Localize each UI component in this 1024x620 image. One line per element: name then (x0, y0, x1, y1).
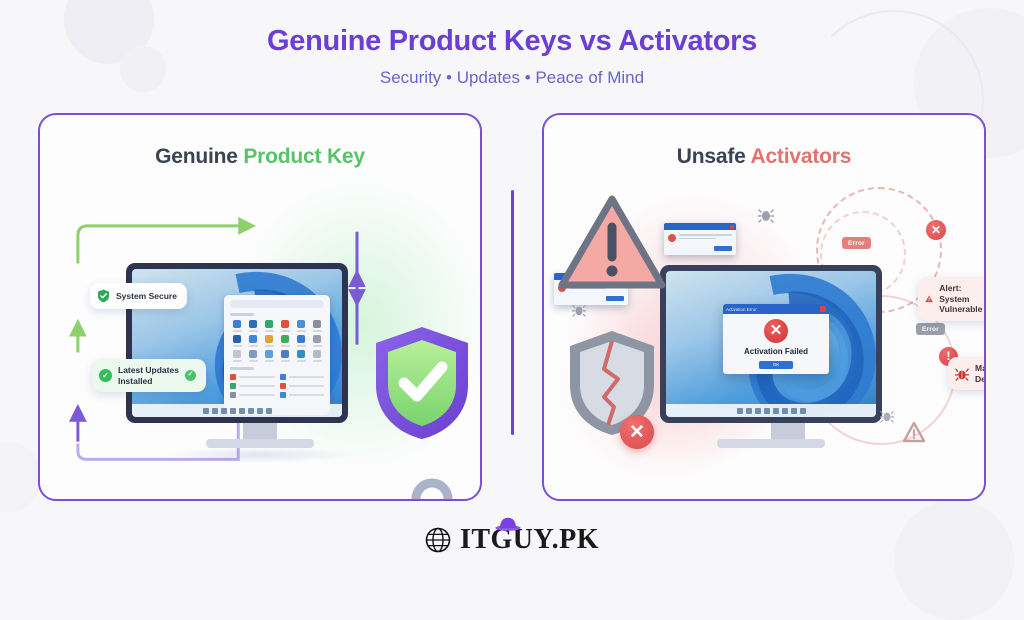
purple-hat-icon (495, 517, 521, 531)
start-menu-section-label (230, 313, 254, 316)
dialog-body: ✕ Activation Failed OK (723, 314, 829, 369)
check-circle-icon-secondary: ✓ (185, 370, 196, 381)
monitor-stand (243, 423, 277, 439)
panel-genuine-product-key: Genuine Product Key (38, 113, 482, 501)
dialog-titlebar: Activation Error (723, 304, 829, 314)
warning-triangle-icon (556, 193, 668, 295)
start-menu-panel (224, 295, 330, 415)
badge-malware-detected[interactable]: Malware Detected (948, 357, 986, 390)
monitor-shadow (165, 447, 355, 463)
start-menu-app-grid (230, 320, 324, 362)
warning-triangle-icon (925, 293, 933, 305)
background-blob (0, 442, 42, 512)
popup-titlebar (664, 223, 736, 230)
badge-system-secure[interactable]: System Secure (90, 283, 187, 309)
popup-ok-button[interactable] (714, 246, 732, 251)
start-menu-recent-list (230, 374, 324, 398)
monitor-stand (771, 423, 805, 439)
error-popup-window[interactable] (664, 223, 736, 255)
badge-latest-updates[interactable]: ✓ Latest Updates Installed ✓ (92, 359, 206, 392)
close-icon[interactable] (820, 306, 826, 312)
page-title: Genuine Product Keys vs Activators (0, 24, 1024, 59)
padlock-key-icon (390, 475, 474, 501)
badge-latest-updates-label: Latest Updates Installed (118, 365, 179, 386)
page-header: Genuine Product Keys vs Activators Secur… (0, 24, 1024, 88)
background-blob (894, 500, 1014, 620)
bug-icon (758, 207, 774, 223)
badge-system-secure-label: System Secure (116, 291, 177, 302)
warning-triangle-icon-small (902, 421, 926, 443)
check-circle-icon: ✓ (99, 369, 112, 382)
bug-icon (955, 367, 969, 381)
error-x-icon (668, 234, 676, 242)
badge-system-vulnerable-label: Alert: System Vulnerable (939, 283, 986, 315)
shield-check-icon (97, 289, 110, 303)
panel-divider (511, 190, 514, 435)
bug-icon (572, 303, 586, 317)
error-chip: Error (842, 237, 871, 249)
error-x-icon: ✕ (764, 319, 788, 343)
close-icon[interactable] (730, 225, 734, 229)
taskbar (132, 404, 342, 417)
footer-logo[interactable]: ITGUY.PK (0, 524, 1024, 556)
popup-body (664, 230, 736, 246)
badge-malware-detected-label: Malware Detected (975, 363, 986, 384)
start-menu-section-label (230, 367, 254, 370)
dialog-message: Activation Failed (723, 347, 829, 356)
badge-system-vulnerable[interactable]: Alert: System Vulnerable (918, 277, 986, 321)
bug-icon (880, 409, 894, 423)
error-chip: Error (916, 323, 945, 335)
popup-ok-button[interactable] (606, 296, 624, 301)
shield-check-icon (368, 323, 476, 443)
globe-icon (425, 527, 451, 553)
monitor-base (717, 439, 825, 448)
panel-unsafe-activators: Unsafe Activators (542, 113, 986, 501)
activation-failed-dialog[interactable]: Activation Error ✕ Activation Failed OK (723, 304, 829, 374)
error-x-icon: ✕ (620, 415, 654, 449)
page-subtitle: Security • Updates • Peace of Mind (0, 68, 1024, 88)
taskbar (666, 404, 876, 417)
error-x-icon-small: ✕ (926, 220, 946, 240)
dialog-title: Activation Error (726, 307, 757, 312)
start-menu-search (230, 300, 324, 308)
dialog-ok-button[interactable]: OK (759, 361, 793, 369)
logo-text: ITGUY.PK (460, 524, 599, 556)
